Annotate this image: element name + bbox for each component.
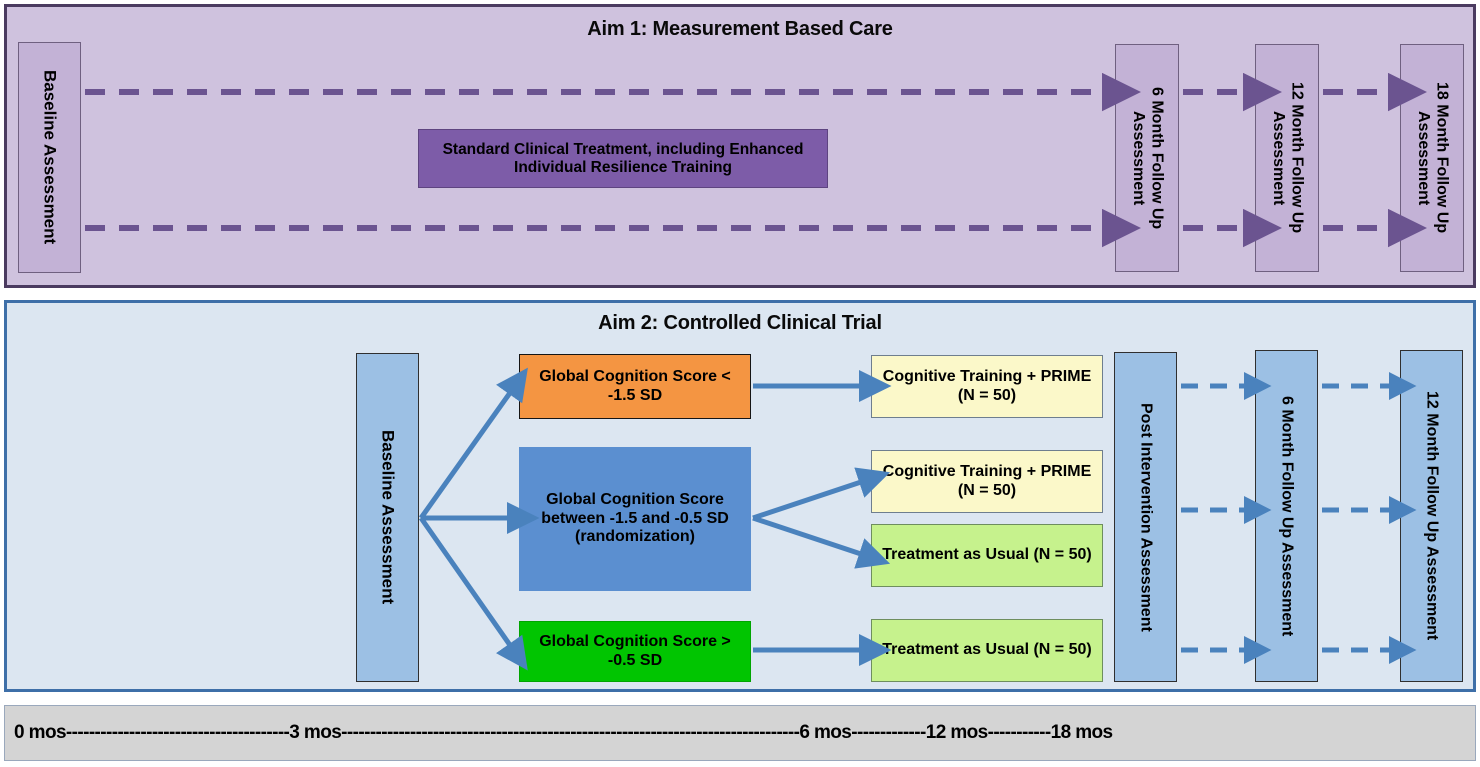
aim2-arm-cognitive-training-2: Cognitive Training + PRIME (N = 50) — [871, 450, 1103, 513]
aim1-followup-6month: 6 Month Follow Up Assessment — [1115, 44, 1179, 272]
diagram-canvas: Aim 1: Measurement Based Care Baseline A… — [0, 0, 1480, 767]
aim2-followup-6month: 6 Month Follow Up Assessment — [1255, 350, 1318, 682]
aim1-followup-12month: 12 Month Follow Up Assessment — [1255, 44, 1319, 272]
aim2-title: Aim 2: Controlled Clinical Trial — [7, 312, 1473, 335]
aim1-title: Aim 1: Measurement Based Care — [7, 18, 1473, 41]
aim2-stratum-low: Global Cognition Score < -1.5 SD — [519, 354, 751, 419]
timeline-label: 0 mos-----------------------------------… — [0, 705, 1472, 761]
aim2-arm-treatment-as-usual-1: Treatment as Usual (N = 50) — [871, 524, 1103, 587]
aim2-arm-treatment-as-usual-2: Treatment as Usual (N = 50) — [871, 619, 1103, 682]
aim2-arm-cognitive-training-1: Cognitive Training + PRIME (N = 50) — [871, 355, 1103, 418]
aim1-standard-treatment-box: Standard Clinical Treatment, including E… — [418, 129, 828, 188]
aim2-baseline-assessment: Baseline Assessment — [356, 353, 419, 682]
aim2-followup-12month: 12 Month Follow Up Assessment — [1400, 350, 1463, 682]
aim1-followup-18month: 18 Month Follow Up Assessment — [1400, 44, 1464, 272]
aim2-post-intervention-assessment: Post Intervention Assessment — [1114, 352, 1177, 682]
aim1-baseline-assessment: Baseline Assessment — [18, 42, 81, 273]
aim2-stratum-high: Global Cognition Score > -0.5 SD — [519, 621, 751, 682]
aim2-stratum-mid: Global Cognition Score between -1.5 and … — [519, 447, 751, 591]
